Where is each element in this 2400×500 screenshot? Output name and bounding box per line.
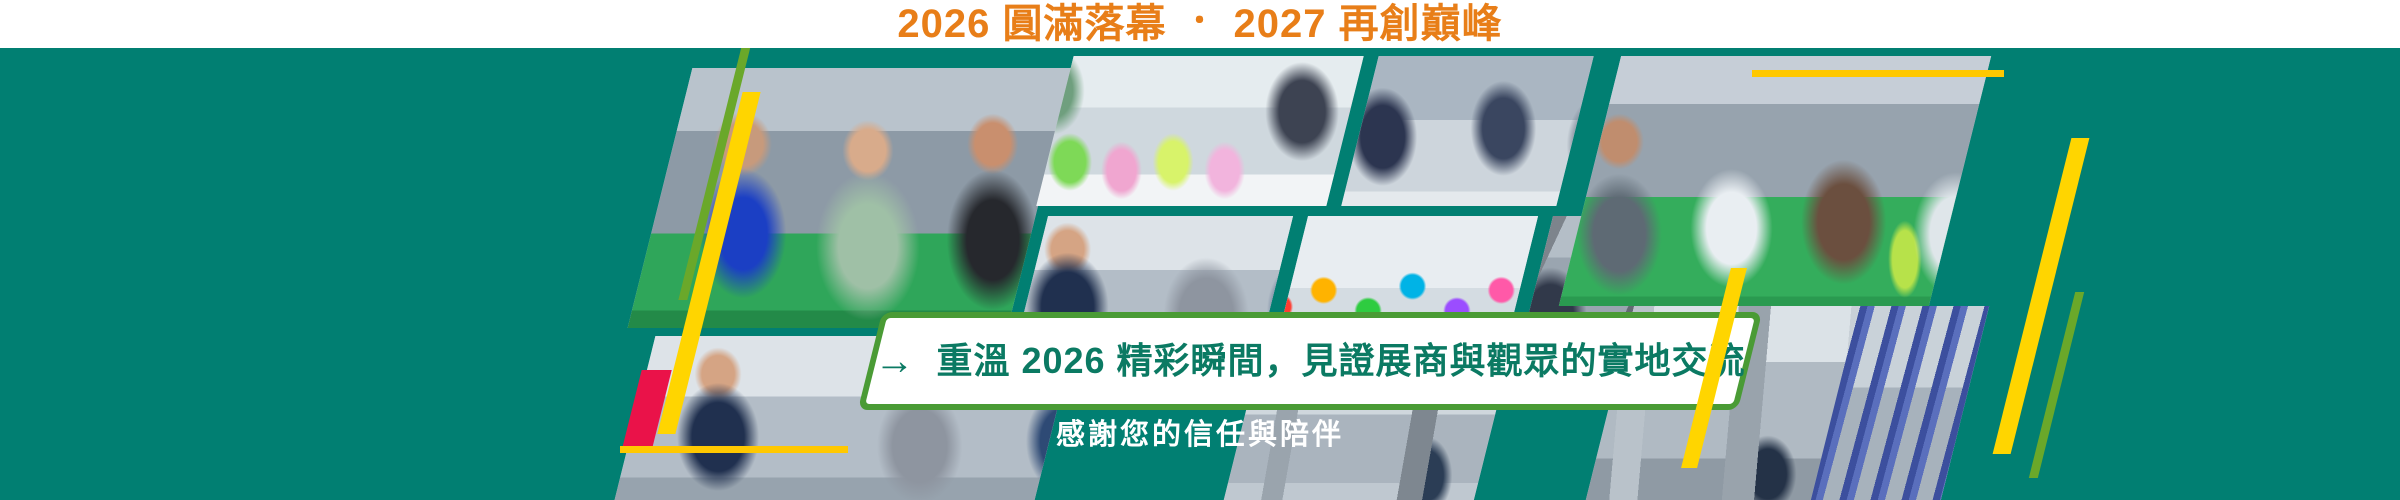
expo-recap-banner: 2026 圓滿落幕 ・ 2027 再創巔峰 [0, 0, 2400, 500]
headline: 2026 圓滿落幕 ・ 2027 再創巔峰 [0, 0, 2400, 48]
cta-label: 重溫 2026 精彩瞬間，見證展商與觀眾的實地交流 [936, 343, 1745, 379]
headline-separator: ・ [1185, 7, 1216, 37]
accent-rule-top-right [1752, 70, 2004, 77]
photo-booth-visitors [1341, 56, 1593, 206]
cta-banner-content: → 重溫 2026 精彩瞬間，見證展商與觀眾的實地交流 [870, 312, 1750, 410]
cta-banner[interactable]: → 重溫 2026 精彩瞬間，見證展商與觀眾的實地交流 [870, 312, 1750, 410]
photo-cosmetic-display-image [1036, 56, 1363, 206]
thanks-message: 感謝您的信任與陪伴 [0, 418, 2400, 453]
headline-left: 2026 圓滿落幕 [897, 4, 1166, 44]
headline-right: 2027 再創巔峰 [1234, 4, 1503, 44]
arrow-right-icon: → [874, 341, 914, 381]
photo-hall-crowd-image [1559, 56, 1991, 306]
photo-hall-crowd [1559, 56, 1991, 306]
photo-cosmetic-display [1036, 56, 1363, 206]
photo-booth-visitors-image [1341, 56, 1593, 206]
